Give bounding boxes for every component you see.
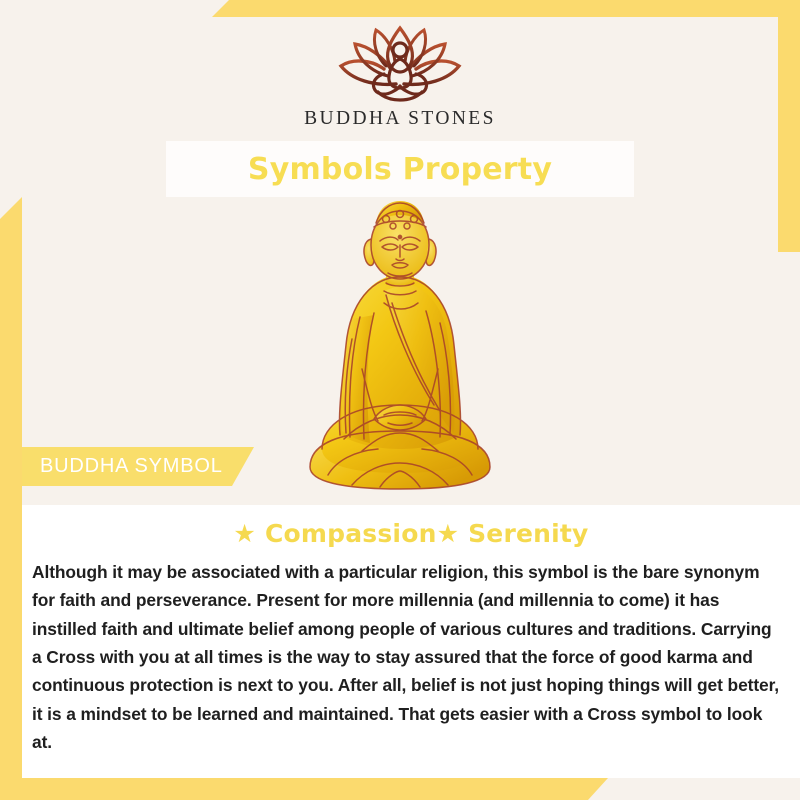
decor-frame-left (0, 197, 22, 800)
decor-frame-top (212, 0, 800, 17)
content-panel: ★ Compassion★ Serenity Although it may b… (22, 505, 800, 778)
page-title: Symbols Property (248, 152, 552, 187)
content-tagline: ★ Compassion★ Serenity (22, 505, 800, 548)
decor-frame-bottom (0, 778, 608, 800)
section-ribbon: BUDDHA SYMBOL (22, 447, 254, 486)
lotus-meditation-icon (322, 22, 478, 106)
brand-wordmark: BUDDHA STONES (304, 108, 496, 130)
golden-buddha-statue-image (288, 199, 512, 499)
brand-logo-block: BUDDHA STONES (0, 22, 800, 140)
section-ribbon-label: BUDDHA SYMBOL (22, 455, 223, 478)
page-title-band: Symbols Property (166, 141, 634, 197)
infographic-page: BUDDHA STONES Symbols Property (0, 0, 800, 800)
content-paragraph: Although it may be associated with a par… (22, 548, 800, 757)
